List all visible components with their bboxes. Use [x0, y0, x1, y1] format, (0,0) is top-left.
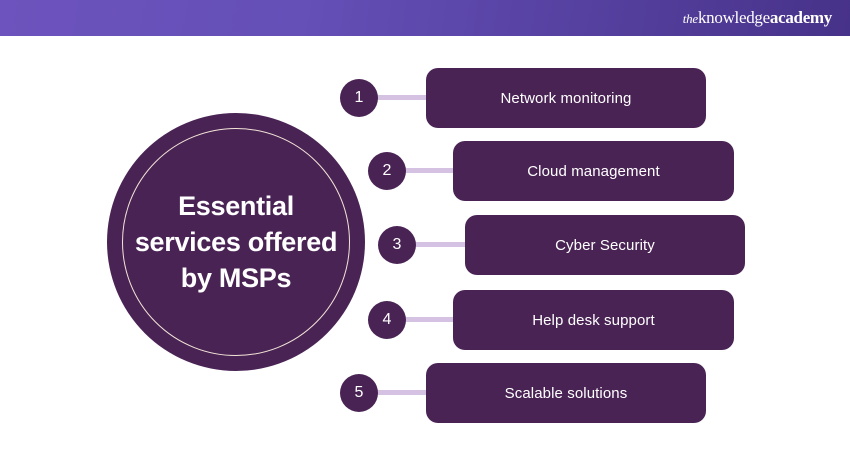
connector-line-1 [374, 95, 430, 100]
item-number-badge-2[interactable]: 2 [368, 152, 406, 190]
logo-text-knowledge: knowledge [698, 8, 770, 27]
item-box-5[interactable]: Scalable solutions [426, 363, 706, 423]
list-item: 4 Help desk support [0, 290, 850, 350]
item-number-badge-4[interactable]: 4 [368, 301, 406, 339]
connector-line-5 [374, 390, 430, 395]
list-item: 2 Cloud management [0, 141, 850, 201]
item-box-4[interactable]: Help desk support [453, 290, 734, 350]
connector-line-3 [412, 242, 469, 247]
logo-text-academy: academy [770, 8, 832, 27]
infographic-stage: Essential services offered by MSPs 1 Net… [0, 36, 850, 450]
item-box-2[interactable]: Cloud management [453, 141, 734, 201]
brand-logo[interactable]: theknowledgeacademy [683, 9, 832, 27]
connector-line-2 [402, 168, 457, 173]
item-box-1[interactable]: Network monitoring [426, 68, 706, 128]
item-box-3[interactable]: Cyber Security [465, 215, 745, 275]
list-item: 5 Scalable solutions [0, 363, 850, 423]
item-number-badge-1[interactable]: 1 [340, 79, 378, 117]
logo-text-the: the [683, 11, 698, 26]
list-item: 3 Cyber Security [0, 215, 850, 275]
connector-line-4 [402, 317, 457, 322]
item-number-badge-3[interactable]: 3 [378, 226, 416, 264]
item-number-badge-5[interactable]: 5 [340, 374, 378, 412]
list-item: 1 Network monitoring [0, 68, 850, 128]
header-bar: theknowledgeacademy [0, 0, 850, 36]
